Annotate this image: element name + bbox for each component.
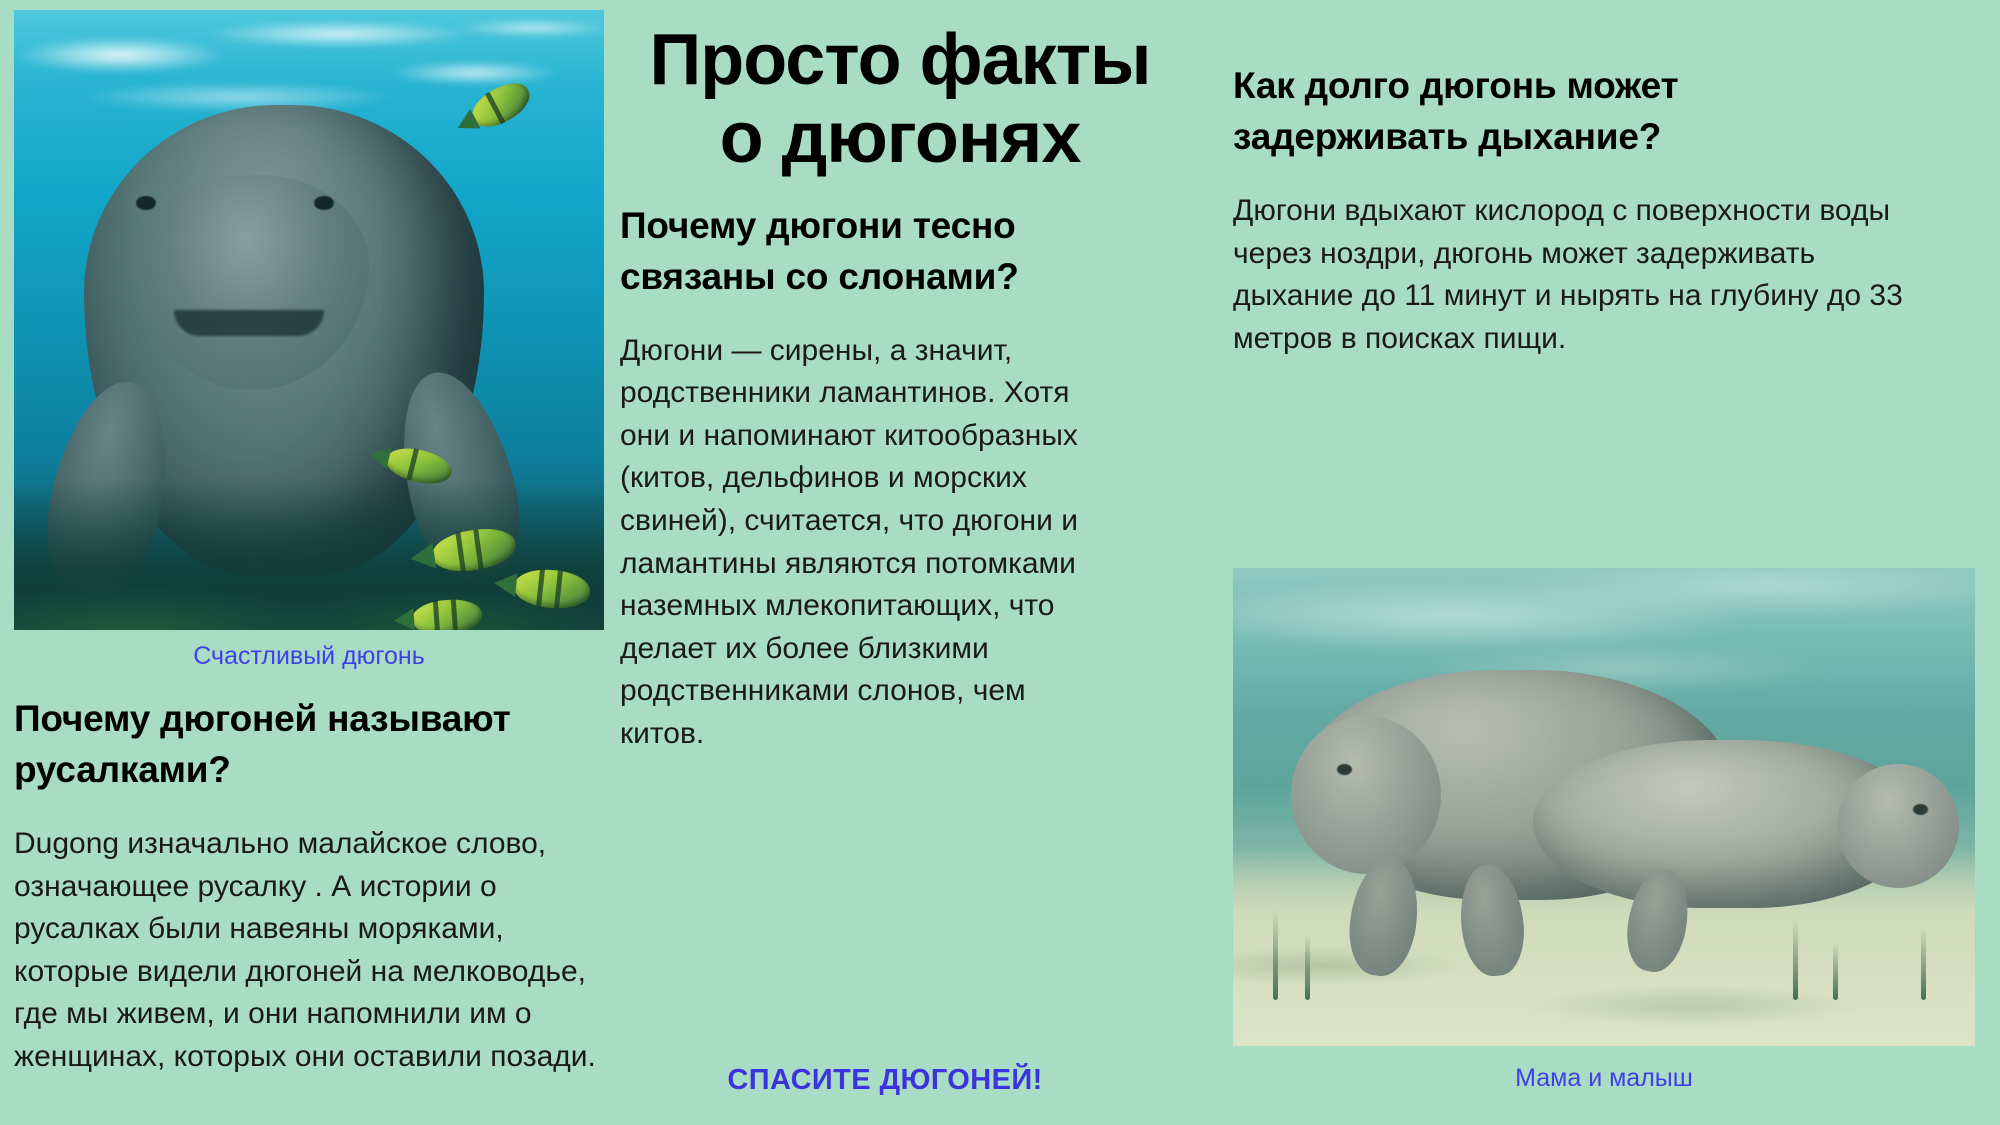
middle-section-body: Дюгони — сирены, а значит, родственники …	[620, 330, 1090, 756]
calf-dugong-head	[1837, 764, 1959, 888]
page-title: Просто факты о дюгонях	[620, 22, 1180, 178]
seagrass-bed	[14, 480, 604, 630]
right-image-caption: Мама и малыш	[1233, 1064, 1975, 1093]
mother-and-calf-photo	[1233, 568, 1975, 1046]
left-section-heading: Почему дюгоней называют русалками?	[14, 693, 634, 795]
middle-section-heading: Почему дюгони тесно связаны со слонами?	[620, 200, 1060, 302]
dugong-closeup-photo	[14, 10, 604, 630]
right-section-heading: Как долго дюгонь может задерживать дыхан…	[1233, 60, 1793, 162]
save-dugongs-cta[interactable]: СПАСИТЕ ДЮГОНЕЙ!	[670, 1064, 1100, 1097]
right-column: Как долго дюгонь может задерживать дыхан…	[1233, 38, 1973, 360]
right-section-body: Дюгони вдыхают кислород с поверхности во…	[1233, 190, 1933, 360]
left-column: Счастливый дюгонь Почему дюгоней называю…	[14, 10, 634, 1079]
dugong-right-eye	[314, 196, 334, 210]
dugong-left-eye	[136, 196, 156, 210]
dugong-mouth	[174, 310, 324, 336]
calf-dugong-eye	[1913, 804, 1928, 815]
left-image-caption: Счастливый дюгонь	[14, 642, 604, 671]
mother-dugong-eye	[1337, 764, 1352, 775]
mother-dugong-head	[1291, 716, 1441, 874]
infographic-page: Счастливый дюгонь Почему дюгоней называю…	[0, 0, 2000, 1125]
left-section-body: Dugong изначально малайское слово, означ…	[14, 823, 614, 1079]
middle-column: Просто факты о дюгонях Почему дюгони тес…	[620, 22, 1180, 756]
